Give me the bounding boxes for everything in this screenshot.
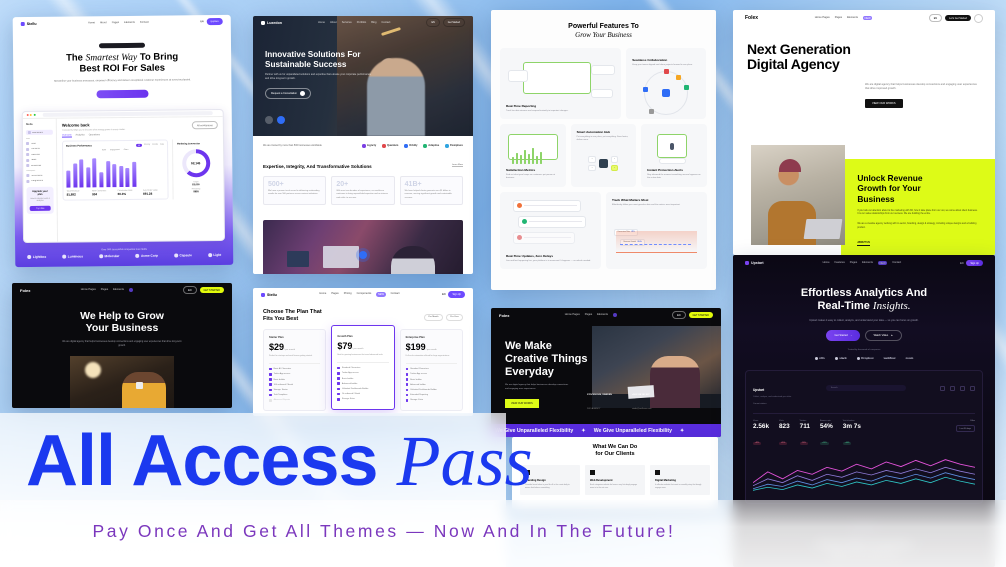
headline-line-1: We Make (505, 340, 552, 352)
nav-item[interactable]: Contact (140, 21, 149, 24)
promo-button[interactable]: Try it free (30, 206, 51, 211)
nav-item[interactable]: Elements (124, 21, 135, 24)
stellar-eyebrow-pill (99, 43, 145, 48)
feature-visual (506, 54, 615, 100)
sidebar-label: Integrations (31, 180, 43, 182)
chart-filter-weekly[interactable]: Weekly (152, 144, 158, 147)
plan-period: / per month (426, 349, 437, 351)
workspace-switcher[interactable]: Stellu (26, 123, 53, 126)
creative-nav-links[interactable]: Home Pages Pages Elements (565, 313, 617, 317)
sidebar-label: Calendar (31, 154, 40, 156)
sidebar-group-label-2: Workspace (26, 170, 53, 172)
donut-title: Marketing Conversion (177, 143, 214, 145)
sidebar-item-broadcast[interactable]: Broadcast (26, 164, 53, 167)
check-icon (406, 389, 409, 392)
photo-laptop (804, 219, 843, 239)
nav-item[interactable]: Pages (835, 16, 842, 20)
logo-list: Ligncty Quantum Orbitly Adaptive Flexiph… (331, 144, 463, 147)
stellar-headline: The Smartest Way To Bring Best ROI For S… (23, 52, 221, 75)
folex-nav-right: EN Let's Get Started (929, 14, 983, 23)
plan-feature: Unlimited Dashboards Builder (337, 388, 388, 391)
photo-lamp (85, 362, 101, 378)
sidebar-label: Documents (31, 175, 43, 177)
stat-value: 41B+ (405, 181, 458, 188)
stat-label: Bounce rate (820, 420, 833, 422)
stellar-hero-cta[interactable] (96, 90, 148, 99)
logo-mark-icon (835, 357, 838, 360)
nav-item[interactable]: Contact (892, 261, 901, 265)
theme-thumbnail-creative[interactable]: Folex Home Pages Pages Elements EN GET S… (491, 308, 721, 437)
promo-headline-italic: Pass (397, 421, 533, 501)
theme-thumbnail-pricing[interactable]: Stellu Home Pages Pricing Components NEW… (253, 288, 473, 416)
nav-item[interactable]: Home (823, 261, 830, 265)
check-icon (406, 383, 409, 386)
feature-card-protection[interactable]: Instant Protection Alerts Stay informed … (641, 124, 707, 186)
check-icon (269, 394, 272, 397)
nav-item[interactable]: Contact (381, 21, 390, 24)
headline-line-3: Everyday (505, 366, 554, 378)
yellow-headline: Unlock Revenue Growth for Your Business (857, 173, 979, 204)
upstart-brand: Upstart (745, 261, 764, 265)
client-logo: Orbitly (404, 144, 417, 147)
plan-feature: Storage: Extra (406, 399, 457, 402)
sidebar-item-integrations[interactable]: Integrations (26, 180, 53, 183)
meta-label: 2015 AGENCY (587, 408, 600, 410)
stat-value: 2.56k (753, 423, 769, 430)
integrations-icon (26, 180, 29, 183)
creative-cta[interactable]: GET STARTED (689, 312, 713, 318)
orbit-center-icon (662, 89, 670, 97)
logo-mark-icon (27, 255, 31, 259)
theme-thumbnail-features[interactable]: Powerful Features To Grow Your Business … (491, 10, 716, 290)
check-icon (337, 382, 340, 385)
feature-title: Satisfaction Metrics (506, 168, 560, 172)
yellow-section-photo (751, 145, 845, 245)
plan-feature: Storage: Starter (269, 389, 320, 392)
carousel-dot-prev[interactable] (265, 116, 273, 124)
nav-item[interactable]: Pages (101, 288, 108, 292)
plan-price-value: $29 (269, 342, 284, 352)
feature-visual: Conversion Rate 45% Revenue Growth 80.0k (612, 211, 701, 257)
stat-bounce-rate: Bounce rate 54% +15% (820, 420, 833, 448)
feature-card-automation[interactable]: Smart Automation Hub Put everything in o… (571, 124, 637, 186)
nav-item[interactable]: Pages (850, 261, 857, 265)
tab-overview[interactable]: Overview (62, 134, 72, 138)
toggle-yearly[interactable]: Per Year (446, 314, 463, 321)
yellow-line-2: Growth for Your (857, 183, 920, 193)
meta-item: +562 128 383 927 studio@weflexus.com (632, 394, 651, 414)
window-min-icon (30, 114, 32, 116)
nav-item[interactable]: Pages (585, 313, 592, 317)
meta-label: studio@weflexus.com (632, 408, 651, 410)
headline-part-3: Best ROI For Sales (79, 62, 165, 74)
theme-thumbnail-folex-dark[interactable]: Folex Home Pages Pages Elements EN GET S… (12, 283, 232, 408)
nav-item[interactable]: Pricing (344, 292, 352, 296)
check-icon (337, 393, 340, 396)
client-logo: Flexiphere (445, 144, 463, 147)
headline-line-1: What We Can Do (593, 444, 638, 450)
filter-button[interactable]: Filter (971, 420, 975, 422)
folex-dark-cta[interactable]: GET STARTED (200, 287, 224, 293)
conversion-donut-panel: Marketing Conversion $2,145 Target $3,00… (172, 139, 219, 200)
nav-item[interactable]: Elements (862, 261, 873, 265)
nav-item[interactable]: Home (319, 292, 326, 296)
sidebar-label: Contacts (31, 148, 40, 150)
logo-mark-icon (857, 357, 860, 360)
feature-card-reporting[interactable]: Real-Time Reporting Track live data stre… (500, 48, 621, 119)
feature-visual (506, 130, 560, 164)
chart-bar (86, 167, 90, 187)
sidebar-item-contacts[interactable]: Contacts (26, 147, 53, 150)
nav-item[interactable]: Pages (331, 292, 338, 296)
plan-feature: Storage: Extra (337, 398, 388, 401)
donut-chart: $2,145 (182, 149, 210, 177)
folex-hero-button[interactable]: VIEW OUR WORKS (865, 99, 903, 108)
dashboard-tabs[interactable]: Overview Analytics Operations (62, 133, 218, 138)
donut-value-1: $3,000 (177, 183, 214, 186)
tab-analytics[interactable]: Analytics (76, 134, 85, 138)
pricing-plan-starter[interactable]: Starter Plan $29/ per month Perfect for … (263, 329, 326, 411)
promo-headline: All Access Pass (26, 425, 546, 497)
app-search-bar[interactable] (43, 111, 213, 117)
nav-item[interactable]: Home (318, 21, 325, 24)
card-title: Digital Marketing (655, 479, 705, 482)
check-icon (269, 399, 272, 402)
chart-bar (119, 166, 123, 188)
lang-selector[interactable]: EN (426, 18, 439, 26)
plan-feature: Advanced builder (337, 382, 388, 385)
headline-line-2: Creative Things (505, 353, 588, 365)
stat-views: Views 2.56k -48% (753, 420, 769, 448)
kpi-value: 934 (92, 192, 114, 196)
photo-person (122, 372, 166, 408)
luxedon-hero-button[interactable]: Request a Consultation (265, 88, 311, 99)
hero-carousel-dots[interactable] (265, 116, 285, 124)
stat-desc: We have a proven track record in deliver… (268, 190, 321, 196)
plan-period: / per month (284, 349, 295, 351)
analytics-search-input[interactable]: Search (826, 385, 906, 391)
luxedon-nav-links[interactable]: Home About Services Portfolio Blog Conta… (318, 21, 390, 24)
lang-selector[interactable]: EN (442, 293, 445, 296)
upstart-nav-right: EN Sign Up (960, 260, 983, 266)
row-line (529, 221, 582, 223)
billing-toggle[interactable]: Per Month Per Year (424, 314, 463, 321)
promo-headline-main: All Access (26, 421, 397, 501)
stat-label: Visits (779, 420, 790, 422)
section-link[interactable]: Learn More (452, 164, 463, 167)
chart-filter-monthly[interactable]: Monthly (144, 144, 150, 147)
features-headline: Powerful Features To Grow Your Business (491, 22, 716, 40)
pricing-nav: Stellu Home Pages Pricing Components NEW… (253, 288, 473, 301)
stat-visitors: Visitors 711 -53% (800, 420, 810, 448)
client-logo: Luminous (62, 254, 83, 258)
lang-selector[interactable]: EN (183, 286, 196, 294)
nav-item[interactable]: Home (88, 21, 95, 24)
pricing-nav-links[interactable]: Home Pages Pricing Components NEW Contac… (319, 292, 399, 296)
logo-mark-icon (815, 357, 818, 360)
upgrade-promo-card: Upgrade your plan Unlock unlimited seats… (26, 187, 53, 214)
sidebar-item-dashboard[interactable]: Dashboard (26, 130, 53, 135)
nav-item[interactable]: Contact (391, 292, 400, 296)
window-close-icon (27, 114, 29, 116)
logo-mark-icon (135, 254, 139, 258)
workspace-label: Stellu (26, 123, 33, 126)
chart-filter-daily[interactable]: Daily (160, 144, 164, 147)
plan-name: Starter Plan (269, 336, 320, 339)
brand-label: Upstart (751, 261, 764, 265)
analytics-card-header: Upstart Collect, analyze, and understand… (753, 378, 975, 398)
feature-visual: • • • • (577, 147, 631, 181)
theme-thumbnail-folex-light[interactable]: Folex Home Pages Pages Elements NEW EN L… (733, 10, 995, 255)
performance-bar-chart (66, 151, 164, 188)
folex-dark-headline: We Help to Grow Your Business (12, 311, 232, 335)
lang-selector[interactable]: EN (672, 311, 685, 319)
creative-meta: STOCKHOLM, SWEDEN 2015 AGENCY +562 128 3… (587, 394, 651, 414)
stat-delta: -48% (753, 442, 761, 445)
dashed-series (620, 244, 691, 245)
plan-feature: Unlimited Dashboards Builder (406, 389, 457, 392)
orbit-node-icon (684, 85, 689, 90)
folex-cta[interactable]: Let's Get Started (945, 15, 971, 21)
nav-item[interactable]: Components (357, 292, 372, 296)
tab-operations[interactable]: Operations (89, 134, 100, 138)
pricing-plan-growth[interactable]: Growth Plan $79/ per month Best for grow… (331, 325, 394, 410)
kpi-item: Total Revenue $1,892 (67, 191, 89, 197)
stat-delta: -65% (779, 442, 787, 445)
menu-icon[interactable] (974, 14, 983, 23)
chart-bar (112, 164, 116, 187)
feature-visual (647, 130, 701, 164)
hero-person (367, 58, 425, 136)
plan-price-value: $199 (406, 342, 426, 352)
promo-banner: Stellu Home About Pages Elements Contact… (0, 0, 1006, 567)
nav-item[interactable]: Features (835, 261, 845, 265)
logo-mark-icon (174, 253, 178, 257)
yellow-panel: Unlock Revenue Growth for Your Business … (841, 159, 995, 255)
pricing-plan-enterprise[interactable]: Enterprise Plan $199/ per month Full-sca… (400, 329, 463, 411)
stellar-cta[interactable]: Explore (207, 18, 223, 24)
welcome-sub: Consistently helps you to discover what … (62, 129, 125, 132)
sidebar-label: Dashboard (32, 131, 43, 133)
download-icon[interactable] (950, 386, 955, 391)
client-logo: Lightbox (27, 255, 46, 259)
settings-icon[interactable] (960, 386, 965, 391)
nav-item[interactable]: About (100, 21, 107, 24)
stat-value: 20+ (336, 181, 389, 188)
theme-thumbnail-luxedon[interactable]: Luxedon Home About Services Portfolio Bl… (253, 16, 473, 274)
upstart-cta[interactable]: Sign Up (966, 260, 983, 266)
client-logo: webflow (884, 356, 896, 360)
chart-bar (99, 172, 103, 188)
upstart-secondary-button[interactable]: Watch Video ▸ (865, 330, 902, 341)
logo-mark-icon (99, 254, 103, 258)
feature-desc: Live and fast happening live, your platf… (506, 260, 595, 263)
documents-icon (26, 174, 29, 177)
marquee-text: We Give Unparalleled Flexibility (594, 428, 672, 434)
video-monitor (323, 246, 359, 268)
area-series (616, 231, 697, 253)
feature-card-track[interactable]: Track What Matters Most Effortlessly fol… (606, 192, 707, 269)
contacts-icon (26, 148, 29, 151)
sidebar-item-tasks[interactable]: Tasks (26, 159, 53, 162)
kpi-value: $1,892 (67, 193, 89, 197)
nav-item[interactable]: Elements (113, 288, 124, 292)
client-logo: Light (208, 253, 221, 257)
plan-features: Standard Characters Twitter App access B… (337, 362, 388, 401)
date-range-selector[interactable]: Last 30 days (956, 425, 975, 432)
folex-dark-nav-links[interactable]: Home Pages Pages Elements (81, 288, 133, 292)
legend-engagement: Engagement (110, 149, 120, 151)
row-line (524, 237, 571, 239)
nav-item[interactable]: Home Pages (565, 313, 580, 317)
analytics-card-actions[interactable] (940, 386, 975, 391)
theme-thumbnail-stellar[interactable]: Stellu Home About Pages Elements Contact… (13, 15, 234, 267)
sidebar-item-calendar[interactable]: Calendar (26, 153, 53, 156)
marquee-star-icon: ✦ (680, 428, 684, 434)
error-icon (517, 235, 522, 240)
brand-label: Folex (745, 15, 758, 21)
row-line (524, 205, 577, 207)
creative-hero: Folex Home Pages Pages Elements EN GET S… (491, 308, 721, 424)
upstart-nav-links[interactable]: Home Features Pages Elements NEW Contact (823, 261, 902, 265)
play-icon: ▸ (891, 334, 892, 337)
luxedon-brand: Luxedon (261, 21, 282, 25)
feature-visual (632, 71, 700, 111)
chart-bar (73, 163, 77, 187)
nav-item[interactable]: About (330, 21, 337, 24)
plan-price: $29/ per month (269, 342, 320, 352)
workspaces-button[interactable]: All workspaces (192, 121, 218, 129)
headline-line-2: Your Business (86, 322, 159, 334)
feature-card-updates[interactable]: Real-Time Updates, Zero Delays Live and … (500, 192, 601, 269)
headline-part-2: To Bring (137, 51, 178, 62)
nav-badge: NEW (376, 292, 385, 296)
feature-title: Real-Time Updates, Zero Delays (506, 254, 595, 258)
lang-selector[interactable]: EN (960, 262, 963, 265)
nav-badge-icon (613, 313, 617, 317)
plan-desc: Full-scale automation offered for large … (406, 355, 457, 358)
logo-icon (261, 21, 265, 25)
feature-visual (506, 198, 595, 250)
stellar-hero: The Smartest Way To Bring Best ROI For S… (13, 28, 232, 105)
automation-chip-highlight: • (611, 165, 618, 172)
chart-title: Business Performance (66, 145, 92, 148)
chart-filter-all[interactable]: All (136, 144, 142, 147)
lang-selector[interactable]: EN (929, 14, 942, 22)
feature-card-collaboration[interactable]: Seamless Collaboration Keep your teams a… (626, 48, 706, 119)
logo-mark-icon (382, 144, 385, 147)
feature-card-satisfaction[interactable]: Satisfaction Metrics Find out what your … (500, 124, 566, 186)
section-title: Expertise, Integrity, And Transformative… (263, 164, 372, 170)
folex-nav-links[interactable]: Home Pages Pages Elements NEW (815, 16, 872, 20)
nav-item[interactable]: Elements (847, 16, 858, 20)
share-icon[interactable] (940, 386, 945, 391)
upstart-subtext: Upstart makes it easy to collect, analyz… (733, 319, 995, 322)
upstart-primary-button[interactable]: Get Started › (826, 330, 859, 341)
legend-sales: Sales (102, 150, 106, 152)
kpi-item: New Customers 934 (92, 190, 114, 196)
client-logo: slack (835, 356, 847, 360)
stellar-nav-links[interactable]: Home About Pages Elements Contact (88, 21, 149, 25)
logo-caption: Over 500 successful companies trust Stel… (23, 247, 225, 252)
folex-dark-nav: Folex Home Pages Pages Elements EN GET S… (12, 283, 232, 297)
toggle-monthly[interactable]: Per Month (424, 314, 443, 321)
check-icon (269, 368, 272, 371)
nav-item[interactable]: Blog (371, 21, 376, 24)
dashboard-icon (27, 131, 30, 134)
feature-desc: Find out what your keeps on customers pu… (506, 174, 560, 180)
feature-title: Instant Protection Alerts (647, 168, 701, 172)
plan-feature: Extended Reporting (406, 394, 457, 397)
folex-brand: Folex (745, 15, 758, 21)
creative-hero-button[interactable]: VIEW OUR WORKS (505, 399, 539, 408)
sidebar-label: Tasks (31, 159, 37, 161)
play-icon[interactable] (359, 251, 367, 259)
headline-line-2: for Our Clients (595, 451, 634, 457)
kpi-item: Avg Order Value $91.28 (143, 190, 165, 196)
line-chart-svg (753, 454, 975, 496)
feature-desc: Effortlessly follow your most granular d… (612, 204, 701, 207)
kpi-row: Total Revenue $1,892 New Customers 934 C… (67, 190, 165, 197)
client-logo: Quantum (382, 144, 398, 147)
stat-label: Visitors (800, 420, 810, 422)
luxedon-cta[interactable]: Get Started (443, 18, 465, 26)
yellow-link[interactable]: ABOUT US (857, 241, 869, 246)
nav-item[interactable]: Pages (112, 21, 119, 24)
luxedon-video-block[interactable] (263, 220, 463, 274)
features-heading: Powerful Features To Grow Your Business (491, 10, 716, 48)
luxedon-hero-text: Innovative Solutions For Sustainable Suc… (265, 50, 375, 99)
stat-value: 711 (800, 423, 810, 430)
sidebar-item-crm[interactable]: CRM (26, 142, 53, 145)
upstart-line-chart (753, 454, 975, 496)
lang-selector[interactable]: EN (200, 20, 203, 23)
stat-value: 500+ (268, 181, 321, 188)
photo-cup (136, 382, 143, 389)
automation-chip: • (611, 156, 618, 163)
nav-item[interactable]: Elements (597, 313, 608, 317)
check-icon (269, 373, 272, 376)
client-card-marketing[interactable]: Digital Marketing In effective website t… (650, 465, 710, 495)
client-card-web[interactable]: Web Development Each categories website … (585, 465, 645, 495)
creative-nav-right: EN GET STARTED (672, 311, 713, 319)
plan-feature: 1k outbound / Month (337, 393, 388, 396)
plan-feature: Basic builder (406, 378, 457, 381)
logo-mark-icon (62, 255, 66, 259)
shield-icon (670, 143, 674, 150)
sidebar-item-documents[interactable]: Documents (26, 174, 53, 177)
nav-item[interactable]: Services (342, 21, 352, 24)
luxedon-headline: Innovative Solutions For Sustainable Suc… (265, 50, 375, 69)
feature-desc: Put everything in one place, put everyth… (577, 136, 631, 142)
folex-headline: Next Generation Digital Agency (747, 42, 981, 73)
nav-item[interactable]: Home Pages (81, 288, 96, 292)
upstart-logos: n8n slack Dropbox webflow zoom (733, 356, 995, 360)
logo-mark-icon (404, 144, 407, 147)
nav-item[interactable]: Portfolio (357, 21, 367, 24)
kpi-value: $91.28 (143, 192, 165, 196)
nav-item[interactable]: Home Pages (815, 16, 830, 20)
brand-label: Folex (20, 288, 30, 293)
carousel-dot-next[interactable] (277, 116, 285, 124)
meta-value: +562 128 383 927 (632, 394, 651, 396)
pricing-cta[interactable]: Sign Up (448, 291, 465, 297)
app-main: Welcome back Consistently helps you to d… (57, 117, 224, 242)
more-icon[interactable] (970, 386, 975, 391)
plan-feature: Twitter App access (269, 373, 320, 376)
broadcast-icon (26, 164, 29, 167)
promo-tagline: Pay Once And Get All Themes — Now And In… (24, 521, 744, 542)
